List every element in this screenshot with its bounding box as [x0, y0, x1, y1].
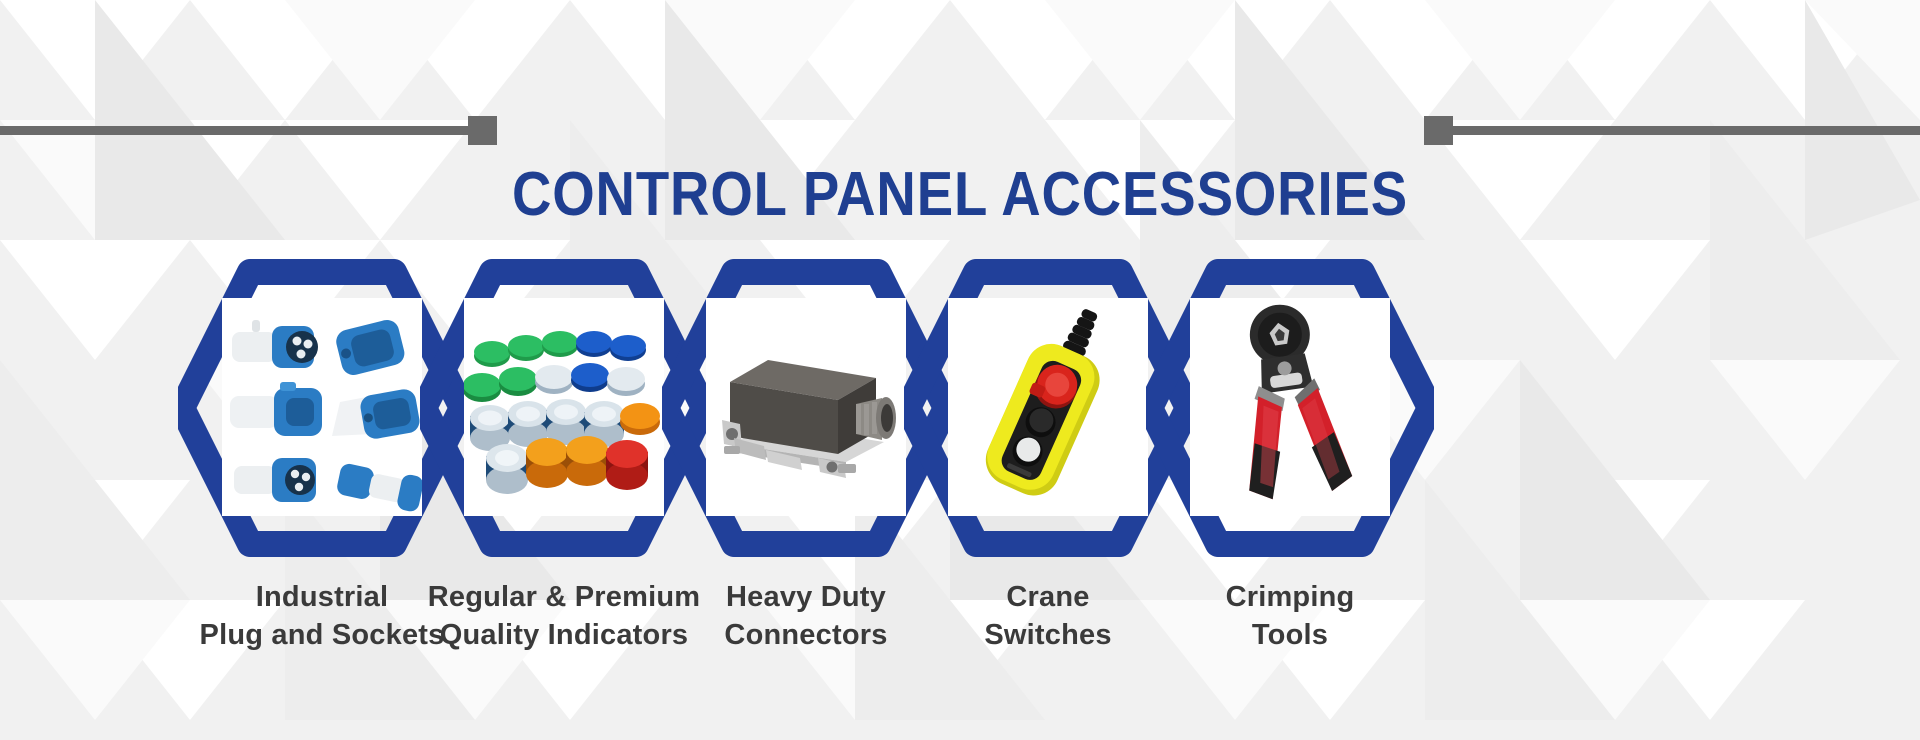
title-rule-left	[0, 126, 478, 135]
control-panel-accessories-banner: CONTROL PANEL ACCESSORIES	[0, 0, 1920, 740]
title-rule-cap-left	[468, 116, 497, 145]
panel-indicator-lights-icon	[464, 298, 664, 516]
page-title: CONTROL PANEL ACCESSORIES	[115, 164, 1805, 226]
crimping-tool-icon	[1190, 298, 1390, 516]
crane-pendant-switch-icon	[948, 298, 1148, 516]
category-item-crimping-tools[interactable]	[1146, 258, 1434, 558]
title-rule-right	[1443, 126, 1920, 135]
caption-line-1: Crimping	[1110, 578, 1470, 616]
title-row: CONTROL PANEL ACCESSORIES	[0, 72, 1920, 152]
caption-crimping-tools: Crimping Tools	[1110, 578, 1470, 654]
heavy-duty-connector-icon	[706, 298, 906, 516]
industrial-plug-and-socket-icon	[222, 298, 422, 516]
caption-line-2: Tools	[1110, 616, 1470, 654]
category-hexagon-row	[0, 258, 1920, 558]
